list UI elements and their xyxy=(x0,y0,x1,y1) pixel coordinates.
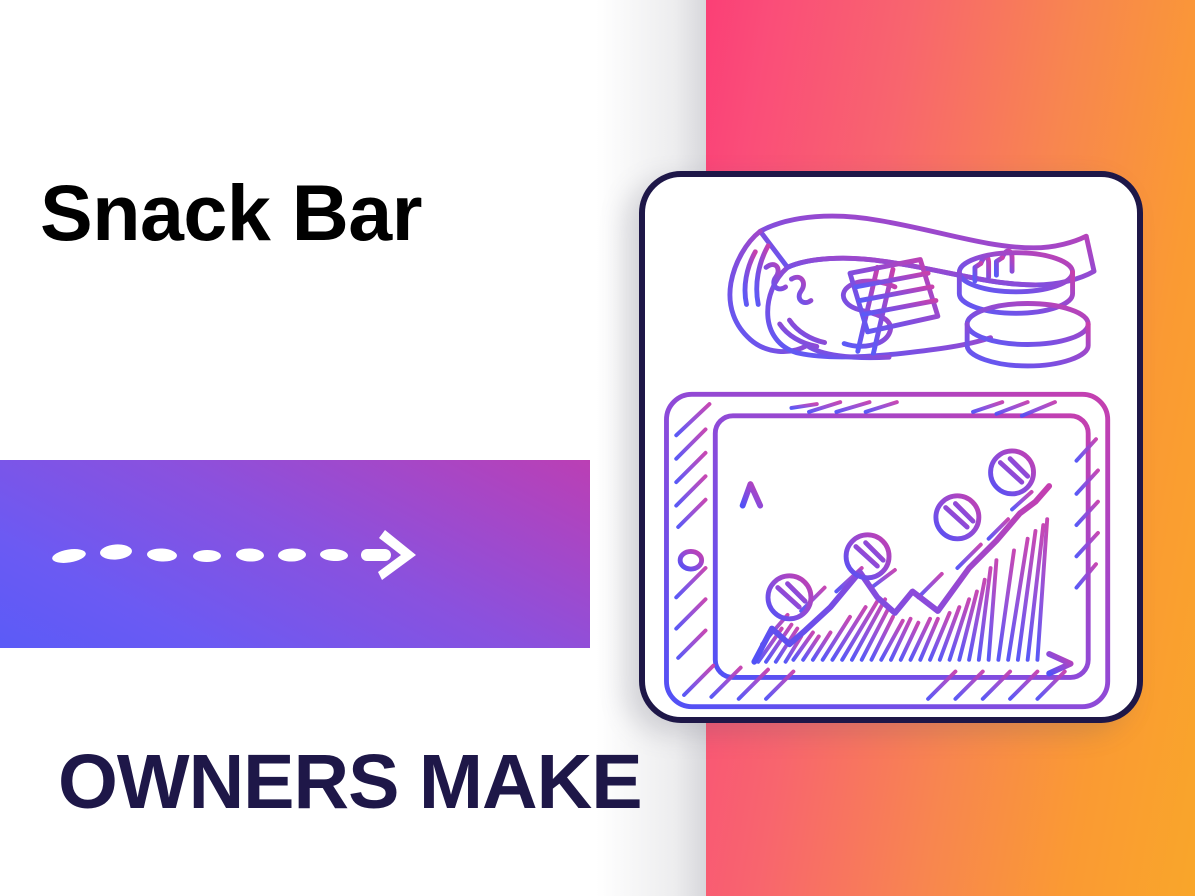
tablet-home-button-icon xyxy=(680,551,701,569)
dashed-right-arrow-icon xyxy=(52,520,422,588)
page-subtitle: OWNERS MAKE xyxy=(58,744,642,821)
money-sketch xyxy=(730,216,1094,366)
coin-stack-icon xyxy=(959,253,1088,366)
poster-canvas: Snack Bar OWNERS MAKE xyxy=(0,0,1195,896)
card-illustration xyxy=(645,177,1137,717)
page-title: Snack Bar xyxy=(40,173,422,252)
illustration-card xyxy=(639,171,1143,723)
tablet-chart-sketch xyxy=(666,394,1107,706)
